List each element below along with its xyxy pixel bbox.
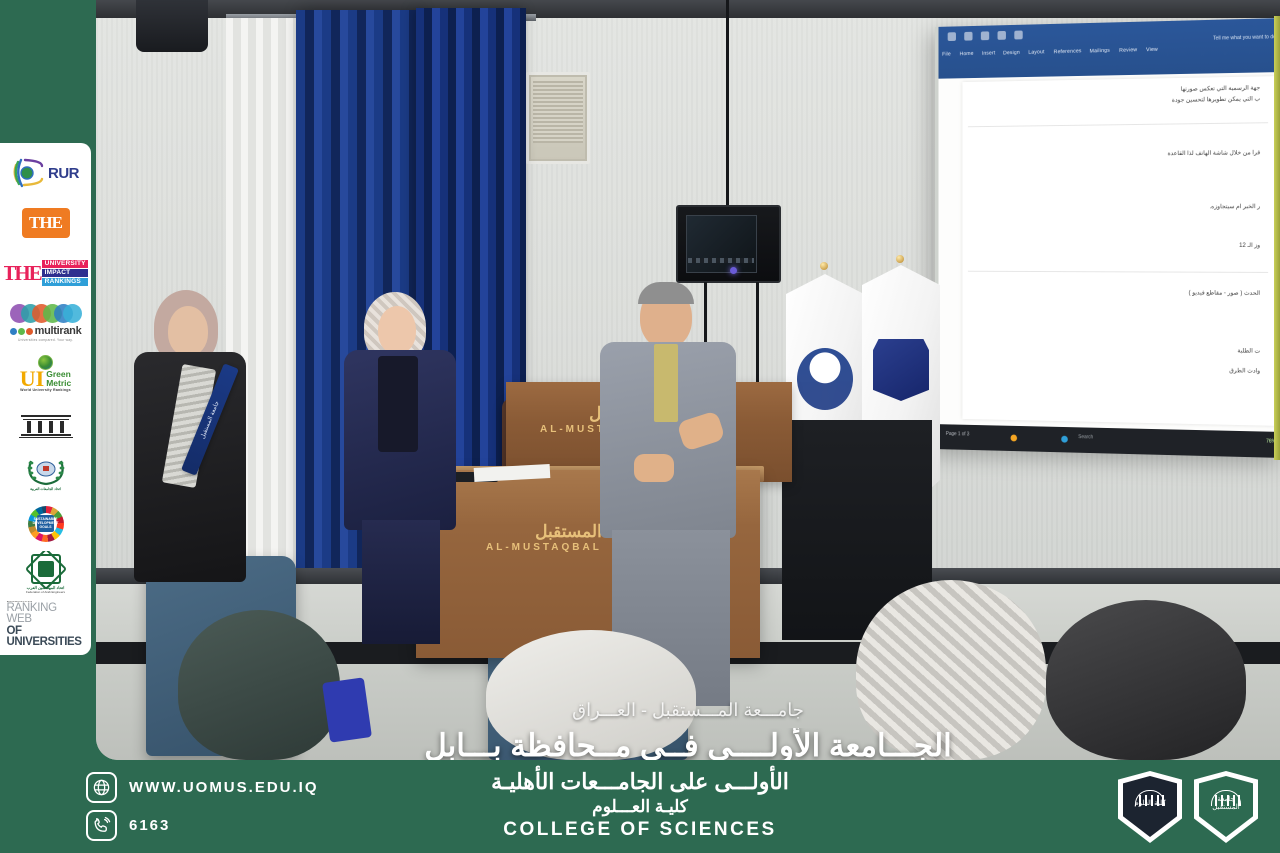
the-impact-line-3: RANKINGS [42,278,88,286]
ribbon-tab-references[interactable]: References [1053,48,1081,55]
photo-caption-subtitle: جامـــعة المـــستقبل - العـــراق [96,700,1280,721]
doc-rule-1 [968,122,1268,127]
multirank-dots-icon [10,328,33,335]
ranking-logo-rur: RUR [4,150,88,196]
undo-icon[interactable] [964,32,972,41]
al-mustaqbal-university-emblem: جامعة المستقبل [1194,771,1258,843]
ranking-logo-arab-universities: اتحاد الجامعات العربية [4,451,88,497]
ribbon-tab-review[interactable]: Review [1119,47,1137,54]
greenmetric-metric-label: Metric [46,379,71,388]
doc-rule-2 [968,271,1268,273]
save-icon[interactable] [948,32,956,41]
doc-line-8: وادث الطرق [1229,367,1260,374]
screen-frame-edge [1274,16,1280,460]
ceiling-speaker [136,0,208,52]
doc-line-2: ب التي يمكن تطويرها لتحسين جودة [1172,95,1260,103]
hair [638,282,694,304]
necktie [654,344,678,422]
ranking-web-line1: RANKING WEB [7,603,85,626]
ranking-logo-temple [4,401,88,447]
the-label: THE [29,213,62,233]
doc-line-5: وز الـ 12 [1239,242,1260,249]
the-impact-label: THE [4,263,41,284]
greenmetric-ui-label: UI [20,370,44,388]
wreath-icon [24,456,68,486]
ranking-logo-ranking-web: Webometrics RANKING WEB OF UNIVERSITIES [4,601,88,647]
format-painter-icon[interactable] [998,31,1006,40]
university-emblem-icon [873,339,929,401]
ribbon-tab-strip[interactable]: File Home Insert Design Layout Reference… [942,47,1157,58]
inner-top [378,356,418,452]
multirank-label: multirank [35,325,82,337]
the-impact-bars-icon: UNIVERSITY IMPACT RANKINGS [42,260,88,286]
podium-brand-en: AL-MUSTAQBAL [486,542,602,553]
ranking-web-line2: OF UNIVERSITIES [7,626,85,647]
taskbar-cortana-icon[interactable] [1061,436,1068,443]
ribbon-tab-layout[interactable]: Layout [1029,49,1045,56]
podium-brand-ar: المستقبل [486,522,602,542]
left-hand [634,454,674,482]
college-of-sciences-emblem: كلية العلوم [1118,771,1182,843]
arab-universities-label: اتحاد الجامعات العربية [30,487,61,491]
face [378,306,416,354]
ranking-logo-sdg: SUSTAINABLE DEVELOPMENT GOALS [4,501,88,547]
doc-line-1: جهة الرسمية التي تعكس صورتها [1181,84,1261,92]
temple-building-icon [21,409,71,439]
rur-label: RUR [48,165,79,182]
ranking-logo-the: THE [4,200,88,246]
rur-arc-icon [12,158,46,188]
tell-me-search[interactable]: Tell me what you want to do [1213,34,1276,41]
federation-label-en: Federation of Arab Engineers [26,590,65,594]
ceiling-cable [726,0,729,210]
taskbar-search[interactable]: Search [1078,434,1093,440]
ribbon-tab-insert[interactable]: Insert [981,50,995,56]
event-photograph: File Home Insert Design Layout Reference… [96,0,1280,760]
word-document-body: جهة الرسمية التي تعكس صورتها ب التي يمكن… [939,72,1280,432]
sdg-wheel-icon: SUSTAINABLE DEVELOPMENT GOALS [28,506,64,542]
document-page: جهة الرسمية التي تعكس صورتها ب التي يمكن… [962,76,1274,426]
ribbon-tab-file[interactable]: File [942,51,951,57]
ribbon-tab-mailings[interactable]: Mailings [1090,48,1110,55]
av-equipment-cabinet [676,205,781,283]
ministry-emblem-icon [797,348,853,410]
page-root: RUR THE THE UNIVERSITY IMPACT RANKINGS [0,0,1280,853]
doc-line-7: ت الطلبة [1237,347,1260,354]
ranking-logo-ui-greenmetric: UI Green Metric World University Ranking… [4,350,88,396]
footer-title-en: COLLEGE OF SCIENCES [0,819,1280,841]
footer-title-ar-1: الأولـــى على الجامـــعات الأهليـة [0,769,1280,795]
the-badge-icon: THE [22,208,70,238]
person-woman-center [336,292,464,652]
sdg-label: SUSTAINABLE DEVELOPMENT GOALS [33,518,59,529]
skirt [362,520,440,644]
the-impact-line-2: IMPACT [42,269,88,277]
footer-title-block: الأولـــى على الجامـــعات الأهليـة كليـة… [0,769,1280,841]
quick-access-toolbar[interactable] [948,31,1023,42]
qat-more-icon[interactable] [1014,31,1022,40]
page-footer: WWW.UOMUS.EDU.IQ 6163 الأولـــى على الجا… [0,760,1280,853]
photo-caption-headline: الجـــامعة الأولــــى فــي مــحافظة بـــ… [96,728,1280,760]
redo-icon[interactable] [981,31,989,40]
greenmetric-sub: World University Rankings [20,388,71,392]
ranking-logo-the-impact: THE UNIVERSITY IMPACT RANKINGS [4,250,88,296]
word-ribbon: File Home Insert Design Layout Reference… [939,18,1280,79]
ribbon-tab-design[interactable]: Design [1003,50,1020,57]
ranking-logo-multirank: multirank Universities compared. Your wa… [4,300,88,346]
university-rankings-sidebar: RUR THE THE UNIVERSITY IMPACT RANKINGS [0,143,91,655]
doc-line-3: قرا من خلال شاشة الهاتف لذا القاعدة [1168,149,1261,157]
air-conditioner-unit [526,72,590,164]
face [168,306,208,356]
doc-line-4: ر الخبر ام سيتجاوزه. [1210,203,1261,210]
doc-line-6: الحدث ( صور - مقاطع فيديو ) [1189,289,1261,296]
octagram-star-icon [31,554,61,584]
projection-screen: File Home Insert Design Layout Reference… [935,18,1280,458]
taskbar-app-icon[interactable] [1011,435,1018,442]
multirank-circles-icon [10,304,82,324]
university-emblem-text: جامعة المستقبل [1210,796,1242,812]
college-emblem-text: كلية العلوم [1134,800,1165,808]
ribbon-tab-view[interactable]: View [1146,47,1158,53]
multirank-sub: Universities compared. Your way. [18,338,73,342]
footer-emblems: كلية العلوم جامعة المستقبل [1118,771,1258,843]
footer-title-ar-2: كليـة العـــلوم [0,797,1280,817]
ribbon-tab-home[interactable]: Home [959,51,973,57]
person-woman-left: جامعة المستقبل [124,290,256,620]
the-impact-line-1: UNIVERSITY [42,260,88,268]
ranking-logo-federation-arab-engineers: اتحاد المهندسين العرب Federation of Arab… [4,551,88,597]
